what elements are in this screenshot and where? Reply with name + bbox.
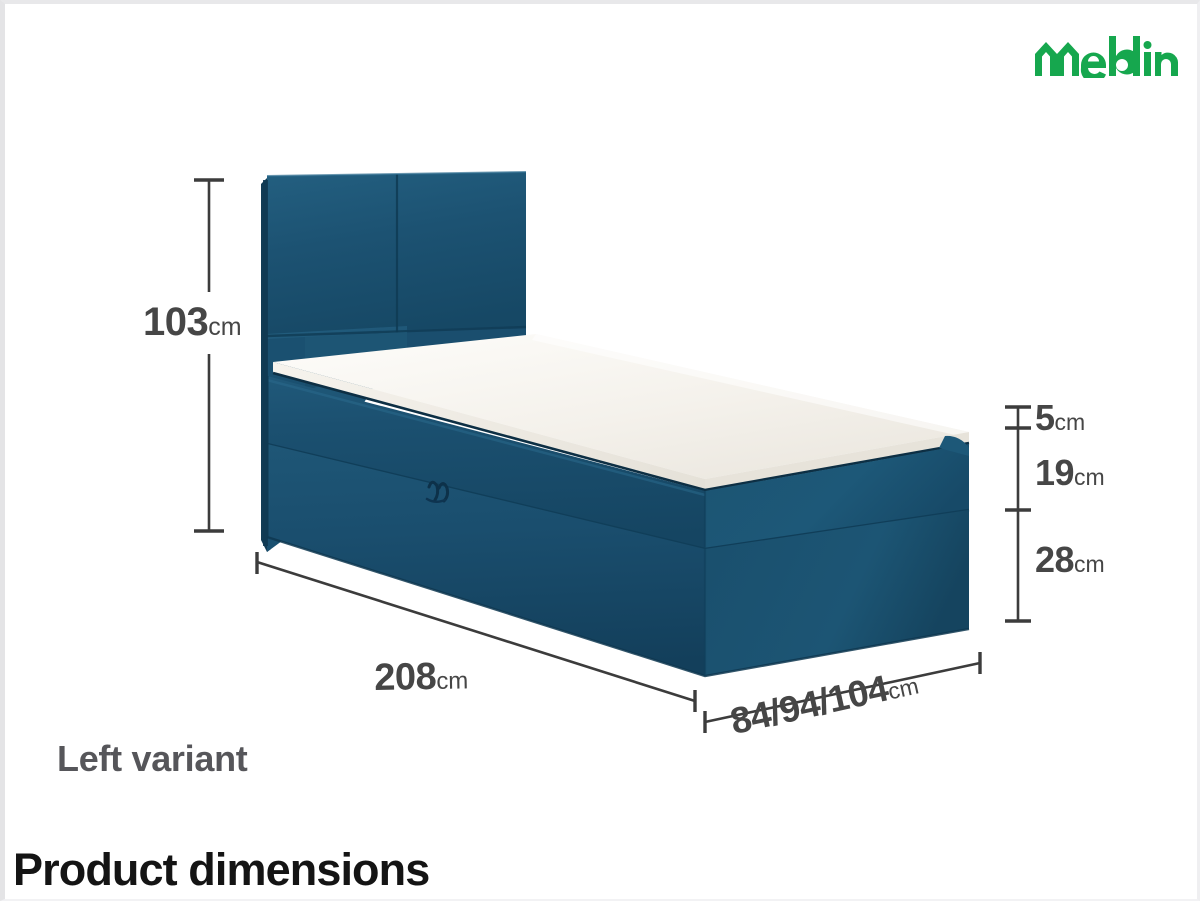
- dimension-value-mattress: 5: [1035, 397, 1055, 438]
- dimension-value-topbox: 19: [1035, 452, 1074, 493]
- dimension-label-base: 28cm: [1035, 542, 1105, 578]
- dimension-unit-base: cm: [1074, 551, 1105, 577]
- dimension-unit-height: cm: [208, 313, 241, 341]
- dimension-label-length: 208cm: [374, 657, 469, 697]
- dimension-unit-topbox: cm: [1074, 464, 1105, 490]
- dimension-label-mattress: 5cm: [1035, 400, 1085, 436]
- dimension-unit-mattress: cm: [1055, 409, 1086, 435]
- dimension-label-height: 103cm: [143, 302, 242, 342]
- dimension-value-base: 28: [1035, 539, 1074, 580]
- page-title: Product dimensions: [13, 844, 429, 896]
- dimension-value-length: 208: [374, 656, 437, 699]
- dimension-value-height: 103: [143, 300, 208, 344]
- variant-caption: Left variant: [57, 738, 247, 780]
- dimension-label-topbox: 19cm: [1035, 455, 1105, 491]
- meblini-logo[interactable]: [1033, 34, 1178, 78]
- dimension-unit-width: cm: [885, 672, 921, 704]
- product-dimensions-page: 103cm 5cm 19cm 28cm 208cm 84/94/104cm Le…: [0, 0, 1200, 901]
- dimension-unit-length: cm: [436, 667, 468, 695]
